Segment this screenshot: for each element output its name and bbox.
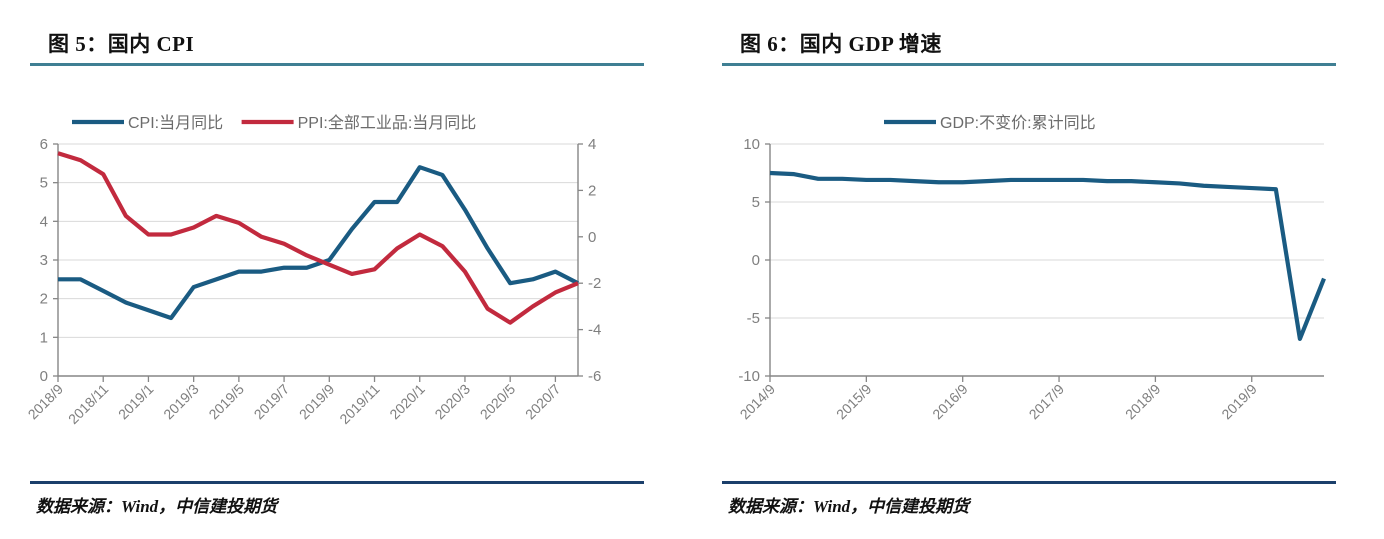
page-title-figure-6: 图 6：国内 GDP 增速 (740, 28, 942, 58)
y-axis-right-label: 2 (588, 182, 596, 199)
y-axis-right-label: -4 (588, 322, 601, 339)
y-axis-left-label: 2 (40, 291, 48, 308)
legend-label-1: CPI:当月同比 (128, 114, 223, 132)
source-divider-right (722, 481, 1336, 484)
x-axis-label: 2016/9 (929, 381, 971, 423)
x-axis-label: 2019/9 (1218, 381, 1260, 423)
y-axis-left-label: 10 (743, 136, 760, 153)
figure-panel-gdp: 图 6：国内 GDP 增速 -10-505102014/92015/92016/… (692, 0, 1384, 539)
x-axis-label: 2019/7 (251, 381, 293, 423)
legend-label-2: PPI:全部工业品:当月同比 (298, 114, 477, 132)
y-axis-left-label: 5 (40, 175, 48, 192)
chart-cpi-ppi: 0123456-6-4-20242018/92018/112019/12019/… (0, 96, 692, 466)
y-axis-left-label: 5 (752, 194, 760, 211)
y-axis-left-label: 4 (40, 213, 48, 230)
y-axis-right-label: 0 (588, 229, 596, 246)
x-axis-label: 2019/5 (205, 381, 247, 423)
y-axis-left-label: 0 (40, 368, 48, 385)
x-axis-label: 2018/9 (1122, 381, 1164, 423)
y-axis-left-label: -5 (747, 310, 760, 327)
chart-gdp: -10-505102014/92015/92016/92017/92018/92… (692, 96, 1384, 466)
x-axis-label: 2017/9 (1026, 381, 1068, 423)
title-divider-left (30, 63, 644, 66)
y-axis-left-label: 1 (40, 329, 48, 346)
x-axis-label: 2019/3 (160, 381, 202, 423)
source-note-left: 数据来源：Wind，中信建投期货 (36, 492, 277, 517)
legend-label-1: GDP:不变价:累计同比 (940, 114, 1096, 132)
y-axis-right-label: -2 (588, 275, 601, 292)
figure-panel-cpi: 图 5：国内 CPI 0123456-6-4-20242018/92018/11… (0, 0, 692, 539)
x-axis-label: 2014/9 (737, 381, 779, 423)
figures-page: 图 5：国内 CPI 0123456-6-4-20242018/92018/11… (0, 0, 1384, 539)
y-axis-left-label: 3 (40, 252, 48, 269)
page-title-figure-5: 图 5：国内 CPI (48, 28, 194, 58)
y-axis-left-label: 0 (752, 252, 760, 269)
source-divider-left (30, 481, 644, 484)
x-axis-label: 2019/9 (296, 381, 338, 423)
chart-cpi-ppi-svg: 0123456-6-4-20242018/92018/112019/12019/… (0, 96, 692, 466)
x-axis-label: 2019/11 (336, 381, 383, 428)
chart-gdp-svg: -10-505102014/92015/92016/92017/92018/92… (692, 96, 1384, 466)
x-axis-label: 2020/1 (386, 381, 428, 423)
title-divider-right (722, 63, 1336, 66)
y-axis-left-label: 6 (40, 136, 48, 153)
x-axis-label: 2020/5 (477, 381, 519, 423)
y-axis-right-label: 4 (588, 136, 596, 153)
x-axis-label: 2019/1 (115, 381, 157, 423)
x-axis-label: 2018/11 (65, 381, 112, 428)
x-axis-label: 2020/3 (431, 381, 473, 423)
x-axis-label: 2020/7 (522, 381, 564, 423)
x-axis-label: 2015/9 (833, 381, 875, 423)
y-axis-left-label: -10 (738, 368, 760, 385)
x-axis-label: 2018/9 (25, 381, 67, 423)
y-axis-right-label: -6 (588, 368, 601, 385)
source-note-right: 数据来源：Wind，中信建投期货 (728, 492, 969, 517)
